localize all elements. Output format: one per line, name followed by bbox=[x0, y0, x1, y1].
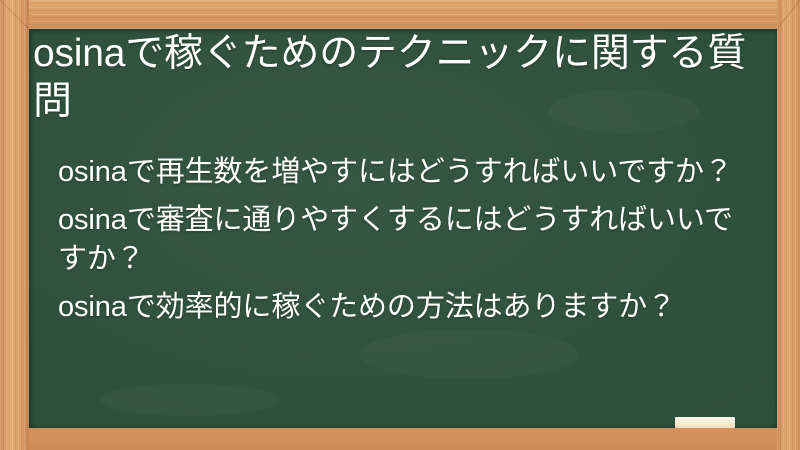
question-list: osinaで再生数を増やすにはどうすればいいですか？ osinaで審査に通りやす… bbox=[33, 153, 749, 327]
chalkboard-frame: osinaで稼ぐためのテクニックに関する質問 osinaで再生数を増やすにはどう… bbox=[0, 0, 800, 450]
list-item: osinaで効率的に稼ぐための方法はありますか？ bbox=[33, 288, 749, 327]
list-item: osinaで再生数を増やすにはどうすればいいですか？ bbox=[33, 153, 749, 192]
frame-rail-right bbox=[777, 0, 800, 450]
chalk-dust-smudge bbox=[359, 329, 579, 379]
chalk-dust-smudge bbox=[99, 384, 279, 416]
chalk-stick-icon bbox=[675, 417, 735, 428]
chalkboard-surface: osinaで稼ぐためのテクニックに関する質問 osinaで再生数を増やすにはどう… bbox=[29, 29, 777, 428]
frame-rail-top bbox=[0, 0, 800, 29]
frame-rail-bottom bbox=[0, 428, 800, 450]
frame-rail-left bbox=[0, 0, 29, 450]
page-title: osinaで稼ぐためのテクニックに関する質問 bbox=[33, 30, 755, 126]
list-item: osinaで審査に通りやすくするにはどうすればいいですか？ bbox=[33, 201, 749, 279]
